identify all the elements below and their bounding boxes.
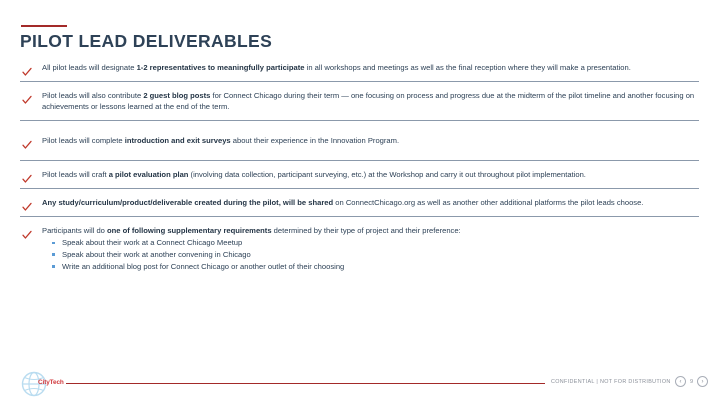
check-icon [22, 174, 32, 184]
check-icon [22, 202, 32, 212]
text-segment: Pilot leads will craft [42, 170, 109, 179]
sub-list-item: Speak about their work at another conven… [52, 249, 699, 261]
text-segment: (involving data collection, participant … [188, 170, 585, 179]
text-segment: Pilot leads will also contribute [42, 91, 143, 100]
text-segment: on ConnectChicago.org as well as another… [333, 198, 643, 207]
sub-list-item-label: Write an additional blog post for Connec… [62, 262, 344, 271]
logo-text: CityTech [38, 379, 64, 386]
list-item: Any study/curriculum/product/deliverable… [20, 189, 699, 216]
deliverables-list: All pilot leads will designate 1-2 repre… [20, 62, 699, 273]
text-segment-bold: 2 guest blog posts [143, 91, 210, 100]
title-accent-rule [21, 25, 67, 27]
list-item-text: Pilot leads will complete introduction a… [42, 135, 699, 147]
footer-accent-rule [66, 383, 545, 384]
text-segment: Pilot leads will complete [42, 136, 125, 145]
next-page-button[interactable]: › [697, 376, 708, 387]
list-item-text: Any study/curriculum/product/deliverable… [42, 197, 699, 209]
logo: CityTech [21, 369, 67, 399]
check-icon [22, 95, 32, 105]
page-number: 9 [689, 379, 694, 385]
check-icon [22, 67, 32, 77]
text-segment: All pilot leads will designate [42, 63, 137, 72]
list-item: All pilot leads will designate 1-2 repre… [20, 62, 699, 81]
list-item-text: Pilot leads will craft a pilot evaluatio… [42, 169, 699, 181]
list-item: Participants will do one of following su… [20, 217, 699, 273]
page-title: PILOT LEAD DELIVERABLES [20, 31, 272, 52]
list-item: Pilot leads will complete introduction a… [20, 121, 699, 161]
bullet-dot-icon [52, 265, 55, 268]
text-segment: determined by their type of project and … [272, 226, 461, 235]
slide-footer: CityTech CONFIDENTIAL | NOT FOR DISTRIBU… [0, 367, 720, 405]
text-segment: about their experience in the Innovation… [231, 136, 399, 145]
check-icon [22, 230, 32, 240]
bullet-dot-icon [52, 242, 55, 245]
sub-list-item-label: Speak about their work at a Connect Chic… [62, 238, 242, 247]
text-segment-bold: one of following supplementary requireme… [107, 226, 272, 235]
slide: PILOT LEAD DELIVERABLES All pilot leads … [0, 0, 720, 405]
text-segment-bold: Any study/curriculum/product/deliverable… [42, 198, 333, 207]
prev-page-button[interactable]: ‹ [675, 376, 686, 387]
list-item-text: All pilot leads will designate 1-2 repre… [42, 62, 699, 74]
page-navigation: ‹ 9 › [675, 376, 708, 387]
text-segment: in all workshops and meetings as well as… [305, 63, 631, 72]
text-segment-bold: 1-2 representatives to meaningfully part… [137, 63, 305, 72]
check-icon [22, 140, 32, 150]
confidential-notice: CONFIDENTIAL | NOT FOR DISTRIBUTION [551, 379, 671, 385]
text-segment-bold: introduction and exit surveys [125, 136, 231, 145]
list-item-text: Pilot leads will also contribute 2 guest… [42, 90, 699, 113]
sub-list-item: Write an additional blog post for Connec… [52, 261, 699, 273]
text-segment: Participants will do [42, 226, 107, 235]
list-item: Pilot leads will also contribute 2 guest… [20, 82, 699, 120]
list-item-text: Participants will do one of following su… [42, 225, 699, 237]
sub-list-item-label: Speak about their work at another conven… [62, 250, 251, 259]
list-item: Pilot leads will craft a pilot evaluatio… [20, 161, 699, 188]
sub-list-item: Speak about their work at a Connect Chic… [52, 237, 699, 249]
text-segment-bold: a pilot evaluation plan [109, 170, 189, 179]
sub-list: Speak about their work at a Connect Chic… [42, 237, 699, 272]
bullet-dot-icon [52, 253, 55, 256]
